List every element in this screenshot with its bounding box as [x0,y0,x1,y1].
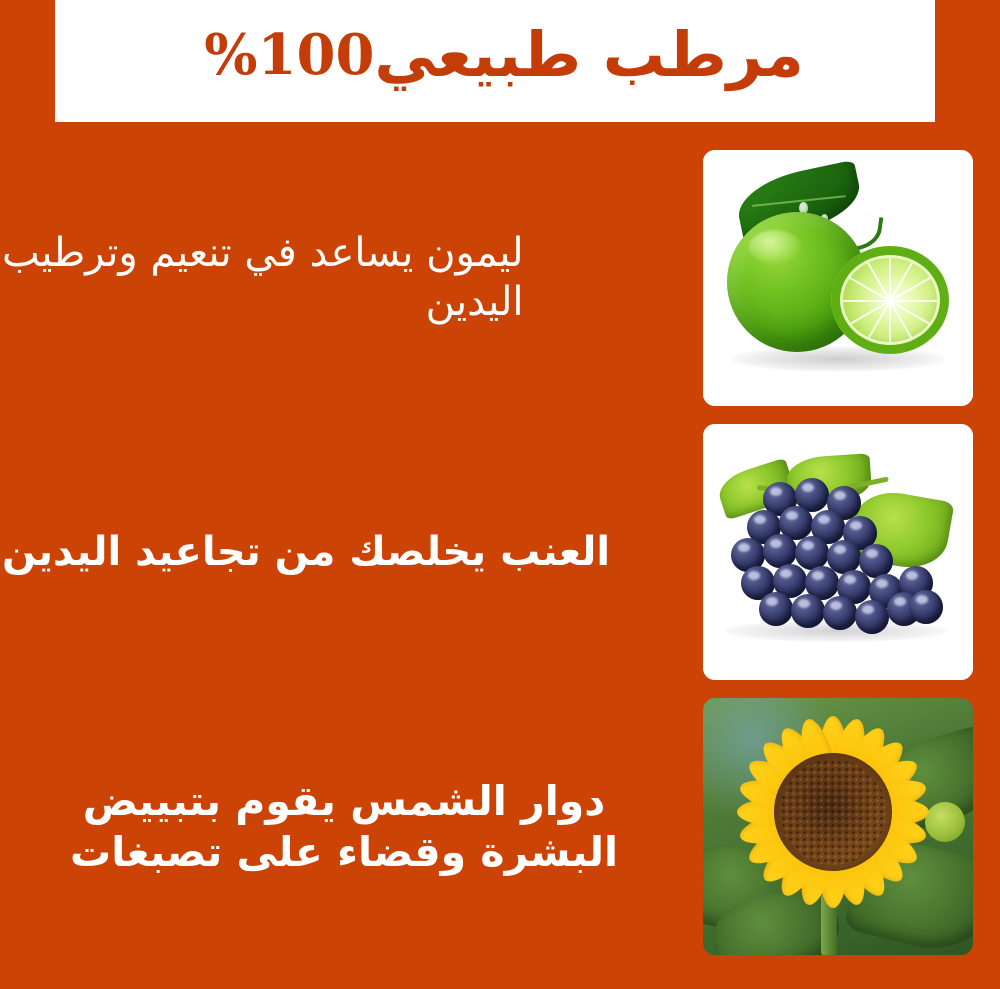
grape-berry [909,590,943,624]
grape-berry [823,596,857,630]
lime-half-fruit [831,246,949,354]
page-title-arabic: مرطب طبيعي [374,18,803,91]
benefit-caption-lime-line1: ليمون يساعد في تنعيم وترطيب [2,229,524,278]
title-banner: مرطب طبيعي%100 [55,0,935,122]
grapes-image-card [703,424,973,680]
lime-image-card [703,150,973,406]
benefit-caption-lime: ليمون يساعد في تنعيم وترطيب اليدين [0,150,690,406]
benefit-caption-lime-line2: اليدين [2,278,524,327]
sunflower-disc [774,753,892,871]
grape-berry [791,594,825,628]
benefit-caption-grapes: العنب يخلصك من تجاعيد اليدين [0,424,690,680]
lime-rind [831,246,949,354]
benefit-caption-sunflower-line2: البشرة وقضاء على تصبغات [70,827,618,877]
grapes-photo [703,424,973,680]
benefit-caption-sunflower-line1: دوار الشمس يقوم بتبييض [70,776,618,826]
benefit-row-grapes: العنب يخلصك من تجاعيد اليدين [0,424,1000,680]
benefit-row-lime: ليمون يساعد في تنعيم وترطيب اليدين [0,150,1000,406]
sunflower-bloom [735,714,931,910]
sunflower-photo [703,698,973,955]
sunflower-bud [925,802,965,842]
benefit-caption-sunflower: دوار الشمس يقوم بتبييض البشرة وقضاء على … [0,698,690,955]
grape-berry [795,536,829,570]
grape-berry [855,600,889,634]
page-title: مرطب طبيعي%100 [186,22,803,87]
sunflower-image-card [703,698,973,955]
lime-photo [703,150,973,406]
grape-berry [759,592,793,626]
lime-shadow [729,346,947,372]
benefit-row-sunflower: دوار الشمس يقوم بتبييض البشرة وقضاء على … [0,698,1000,955]
page-title-percent: %100 [204,26,374,85]
poster-root: مرطب طبيعي%100 ليمون يساعد في تنعيم وترط… [0,0,1000,989]
benefit-caption-grapes-line1: العنب يخلصك من تجاعيد اليدين [2,528,610,577]
grape-berry [763,534,797,568]
